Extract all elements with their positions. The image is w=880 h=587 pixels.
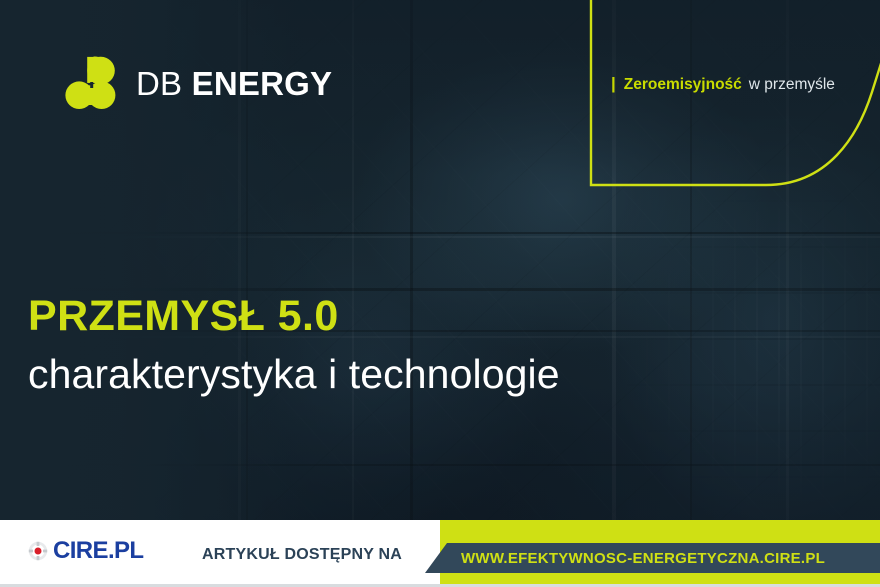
tagline-highlight: Zeroemisyjność	[624, 77, 742, 93]
cire-target-icon	[28, 541, 48, 561]
footer-note: ARTYKUŁ DOSTĘPNY NA	[202, 546, 402, 564]
footer-url-stripe[interactable]: WWW.EFEKTYWNOSC-ENERGETYCZNA.CIRE.PL	[425, 543, 880, 573]
page-subtitle: charakterystyka i technologie	[28, 352, 728, 396]
tagline: | Zeroemisyjność w przemyśle	[611, 75, 835, 93]
footer-bar: CIRE.PL ARTYKUŁ DOSTĘPNY NA WWW.EFEKTYWN…	[0, 520, 880, 587]
promo-banner: DB ENERGY | Zeroemisyjność w przemyśle P…	[0, 0, 880, 587]
brand-logo[interactable]: DB ENERGY	[63, 55, 332, 111]
tagline-divider-icon: |	[611, 75, 616, 92]
brand-name-bold: ENERGY	[192, 65, 333, 102]
cire-label: CIRE.PL	[53, 539, 143, 563]
page-title: PRZEMYSŁ 5.0	[28, 294, 728, 339]
cire-logo[interactable]: CIRE.PL	[28, 539, 143, 563]
brand-wordmark: DB ENERGY	[136, 67, 332, 100]
tagline-rest: w przemyśle	[749, 77, 835, 93]
brand-name-light: DB	[136, 65, 182, 102]
headline-block: PRZEMYSŁ 5.0 charakterystyka i technolog…	[28, 294, 728, 396]
db-energy-trefoil-icon	[63, 55, 119, 111]
footer-url[interactable]: WWW.EFEKTYWNOSC-ENERGETYCZNA.CIRE.PL	[461, 550, 825, 567]
